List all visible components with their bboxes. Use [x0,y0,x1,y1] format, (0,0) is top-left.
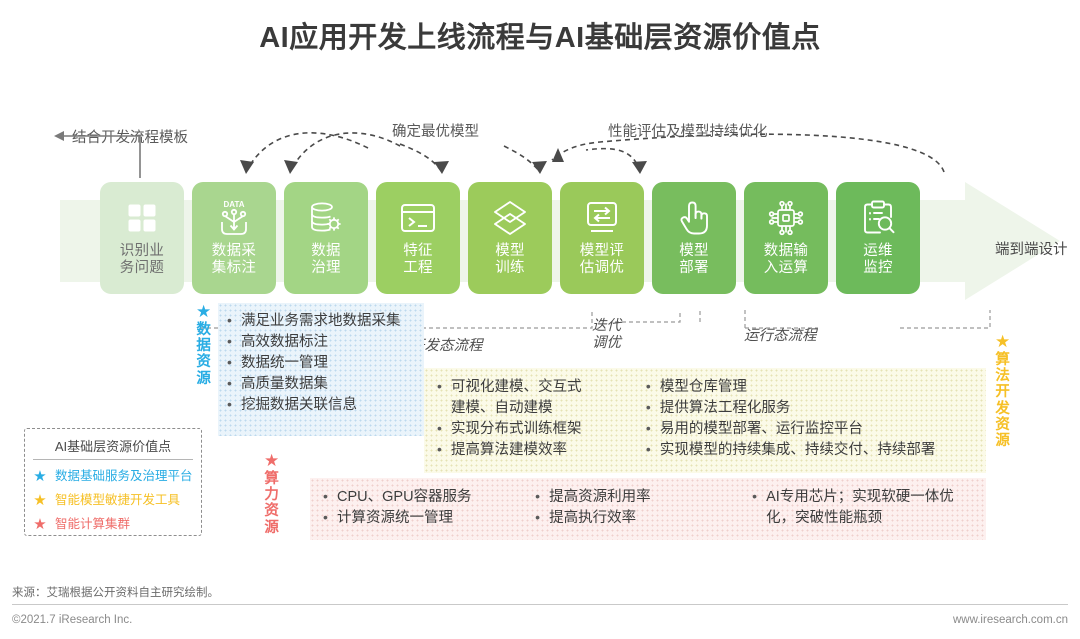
stage-label: 数据 治理 [311,243,341,277]
legend-title: AI基础层资源价值点 [33,436,193,460]
bullet-item: 挖掘数据关联信息 [226,395,418,416]
resource-label-text-1: 数 [196,322,211,338]
stage-data-input-computation[interactable]: 数据输 入运算 [744,182,828,294]
legend-item-data: ★ 数据基础服务及治理平台 [33,465,193,489]
bullet-item: 数据统一管理 [226,353,418,374]
stage-data-collection-labeling[interactable]: DATA 数据采 集标注 [192,182,276,294]
star-icon: ★ [264,452,280,469]
phase-label-iteration: 迭代 调优 [592,318,621,351]
stage-label: 模型 部署 [679,243,709,277]
resource-label-text-3: 开 [995,384,1010,400]
star-icon: ★ [995,333,1011,350]
source-note: 来源：艾瑞根据公开资料自主研究绘制。 [12,584,219,600]
star-icon: ★ [33,493,47,508]
bullet-item: CPU、GPU容器服务 [322,487,534,508]
legend-item-algorithm: ★ 智能模型敏捷开发工具 [33,489,193,513]
clipboard-search-icon [860,196,896,240]
svg-text:DATA: DATA [223,200,244,209]
stage-data-governance[interactable]: 数据 治理 [284,182,368,294]
legend-item-label: 数据基础服务及治理平台 [55,465,193,489]
stage-model-evaluation-tuning[interactable]: 模型评 估调优 [560,182,644,294]
bullet-item: 计算资源统一管理 [322,508,534,529]
stage-label: 特征 工程 [403,243,433,277]
resource-label-data: ★ 数 据 资 源 [196,303,212,387]
bullet-item: 实现分布式训练框架 [436,419,645,440]
stage-ops-monitoring[interactable]: 运维 监控 [836,182,920,294]
stage-label: 运维 监控 [863,243,893,277]
legend-item-compute: ★ 智能计算集群 [33,513,193,537]
resource-label-text-3: 资 [264,503,279,519]
stage-label: 识别业 务问题 [120,243,164,277]
star-icon: ★ [196,303,212,320]
resource-label-text-6: 源 [995,433,1010,449]
stage-model-training[interactable]: 模型 训练 [468,182,552,294]
resource-label-text-2: 据 [196,338,211,354]
end-to-end-design-label: 端到端设计 [995,238,1068,259]
compare-icon [583,196,621,240]
legend-box: AI基础层资源价值点 ★ 数据基础服务及治理平台 ★ 智能模型敏捷开发工具 ★ … [24,428,202,536]
bullet-item: 提供算法工程化服务 [645,398,978,419]
panel-compute-resource: CPU、GPU容器服务 计算资源统一管理 提高资源利用率 提高执行效率 AI专用… [310,478,986,540]
data-funnel-icon: DATA [214,196,254,240]
chip-icon [767,196,805,240]
stage-label: 模型评 估调优 [580,243,624,277]
legend-item-label: 智能计算集群 [55,513,130,537]
panel-data-resource: 满足业务需求地数据采集 高效数据标注 数据统一管理 高质量数据集 挖掘数据关联信… [218,303,424,436]
resource-label-text-1: 算 [995,352,1010,368]
bullet-item: 高质量数据集 [226,374,418,395]
resource-label-text-3: 资 [196,354,211,370]
resource-label-text-2: 力 [264,487,279,503]
stage-identify-business-problem[interactable]: 识别业 务问题 [100,182,184,294]
resource-label-compute: ★ 算 力 资 源 [264,452,280,536]
stage-label: 模型 训练 [495,243,525,277]
bullet-item: 高效数据标注 [226,332,418,353]
resource-label-text-2: 法 [995,368,1010,384]
bullet-item: 提高算法建模效率 [436,440,645,461]
resource-label-text-4: 发 [995,401,1010,417]
bullet-item: 满足业务需求地数据采集 [226,311,418,332]
terminal-icon [399,196,437,240]
bullet-item: 易用的模型部署、运行监控平台 [645,419,978,440]
legend-item-label: 智能模型敏捷开发工具 [55,489,180,513]
resource-label-text-5: 资 [995,417,1010,433]
resource-label-text-4: 源 [196,371,211,387]
bullet-item: 可视化建模、交互式 [436,377,645,398]
resource-label-text-4: 源 [264,520,279,536]
star-icon: ★ [33,517,47,532]
panel-algorithm-resource: 可视化建模、交互式 建模、自动建模 实现分布式训练框架 提高算法建模效率 模型仓… [424,368,986,473]
bullet-item: 提高资源利用率 [534,487,751,508]
bullet-item: 提高执行效率 [534,508,751,529]
bullet-item: 实现模型的持续集成、持续交付、持续部署 [645,440,978,461]
stage-model-deployment[interactable]: 模型 部署 [652,182,736,294]
page-title: AI应用开发上线流程与AI基础层资源价值点 [0,14,1080,56]
resource-label-algorithm: ★ 算 法 开 发 资 源 [995,333,1011,449]
resource-label-text-1: 算 [264,471,279,487]
star-icon: ★ [33,469,47,484]
grid-icon [125,196,159,240]
stage-label: 数据输 入运算 [764,243,808,277]
layers-icon [491,196,529,240]
stage-feature-engineering[interactable]: 特征 工程 [376,182,460,294]
phase-label-runtime: 运行态流程 [744,328,817,345]
website-text: www.iresearch.com.cn [953,614,1068,626]
stage-label: 数据采 集标注 [212,243,256,277]
footer-divider [12,604,1068,605]
bullet-item: 模型仓库管理 [645,377,978,398]
click-hand-icon [676,196,712,240]
bullet-item-cont: 建模、自动建模 [436,398,645,419]
stage-list: 识别业 务问题 DATA 数据采 集标注 [100,182,920,294]
database-gear-icon [307,196,345,240]
copyright-text: ©2021.7 iResearch Inc. [12,614,132,626]
bullet-item: AI专用芯片；实现软硬一体优化，突破性能瓶颈 [751,487,978,529]
